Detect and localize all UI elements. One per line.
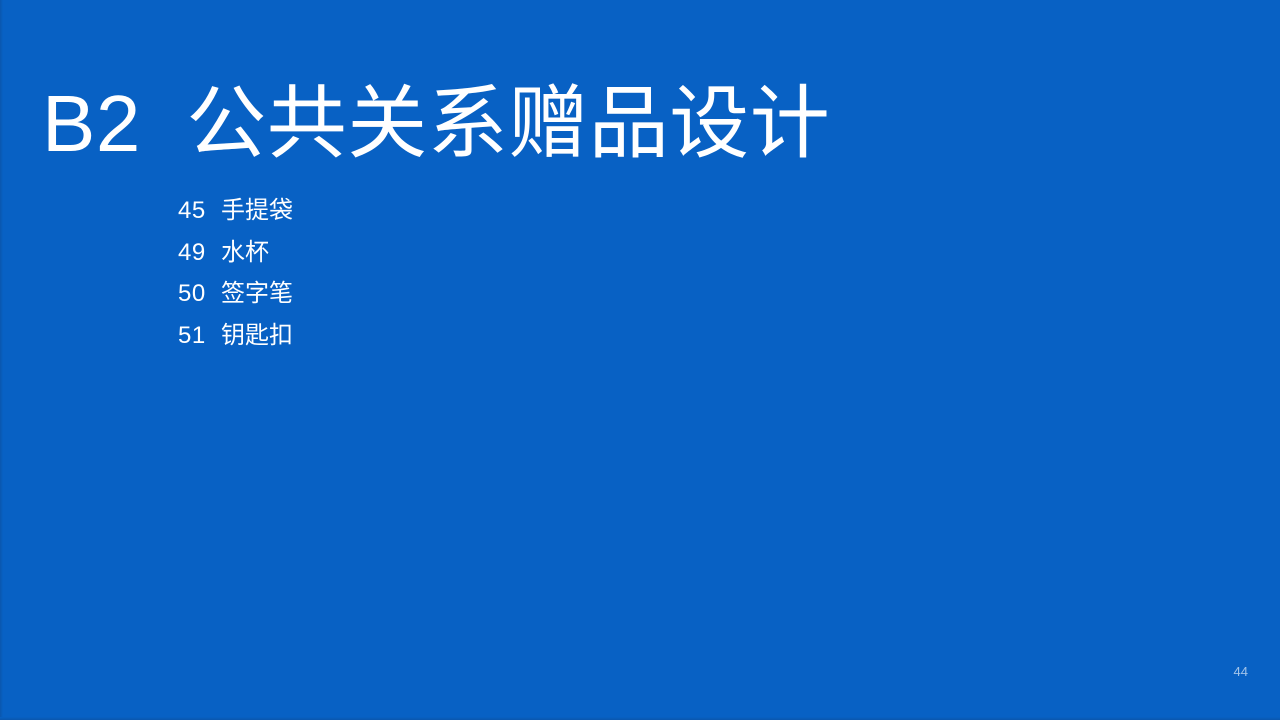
- list-item-number: 50: [178, 273, 210, 315]
- list-item-label: 水杯: [221, 232, 269, 274]
- list-item-label: 签字笔: [221, 273, 293, 315]
- section-contents-list: 45 手提袋 49 水杯 50 签字笔 51 钥匙扣: [178, 190, 293, 356]
- list-item: 51 钥匙扣: [178, 315, 293, 357]
- list-item-number: 45: [178, 190, 210, 232]
- list-item-label: 手提袋: [221, 190, 293, 232]
- list-item-number: 49: [178, 232, 210, 274]
- list-item-label: 钥匙扣: [221, 315, 293, 357]
- list-item: 45 手提袋: [178, 190, 293, 232]
- list-item: 49 水杯: [178, 232, 293, 274]
- presentation-slide: B2 公共关系赠品设计 45 手提袋 49 水杯 50 签字笔 51 钥匙扣 4…: [0, 0, 1280, 720]
- list-item: 50 签字笔: [178, 273, 293, 315]
- page-title: B2 公共关系赠品设计: [42, 76, 830, 172]
- page-number: 44: [1234, 665, 1248, 678]
- list-item-number: 51: [178, 315, 210, 357]
